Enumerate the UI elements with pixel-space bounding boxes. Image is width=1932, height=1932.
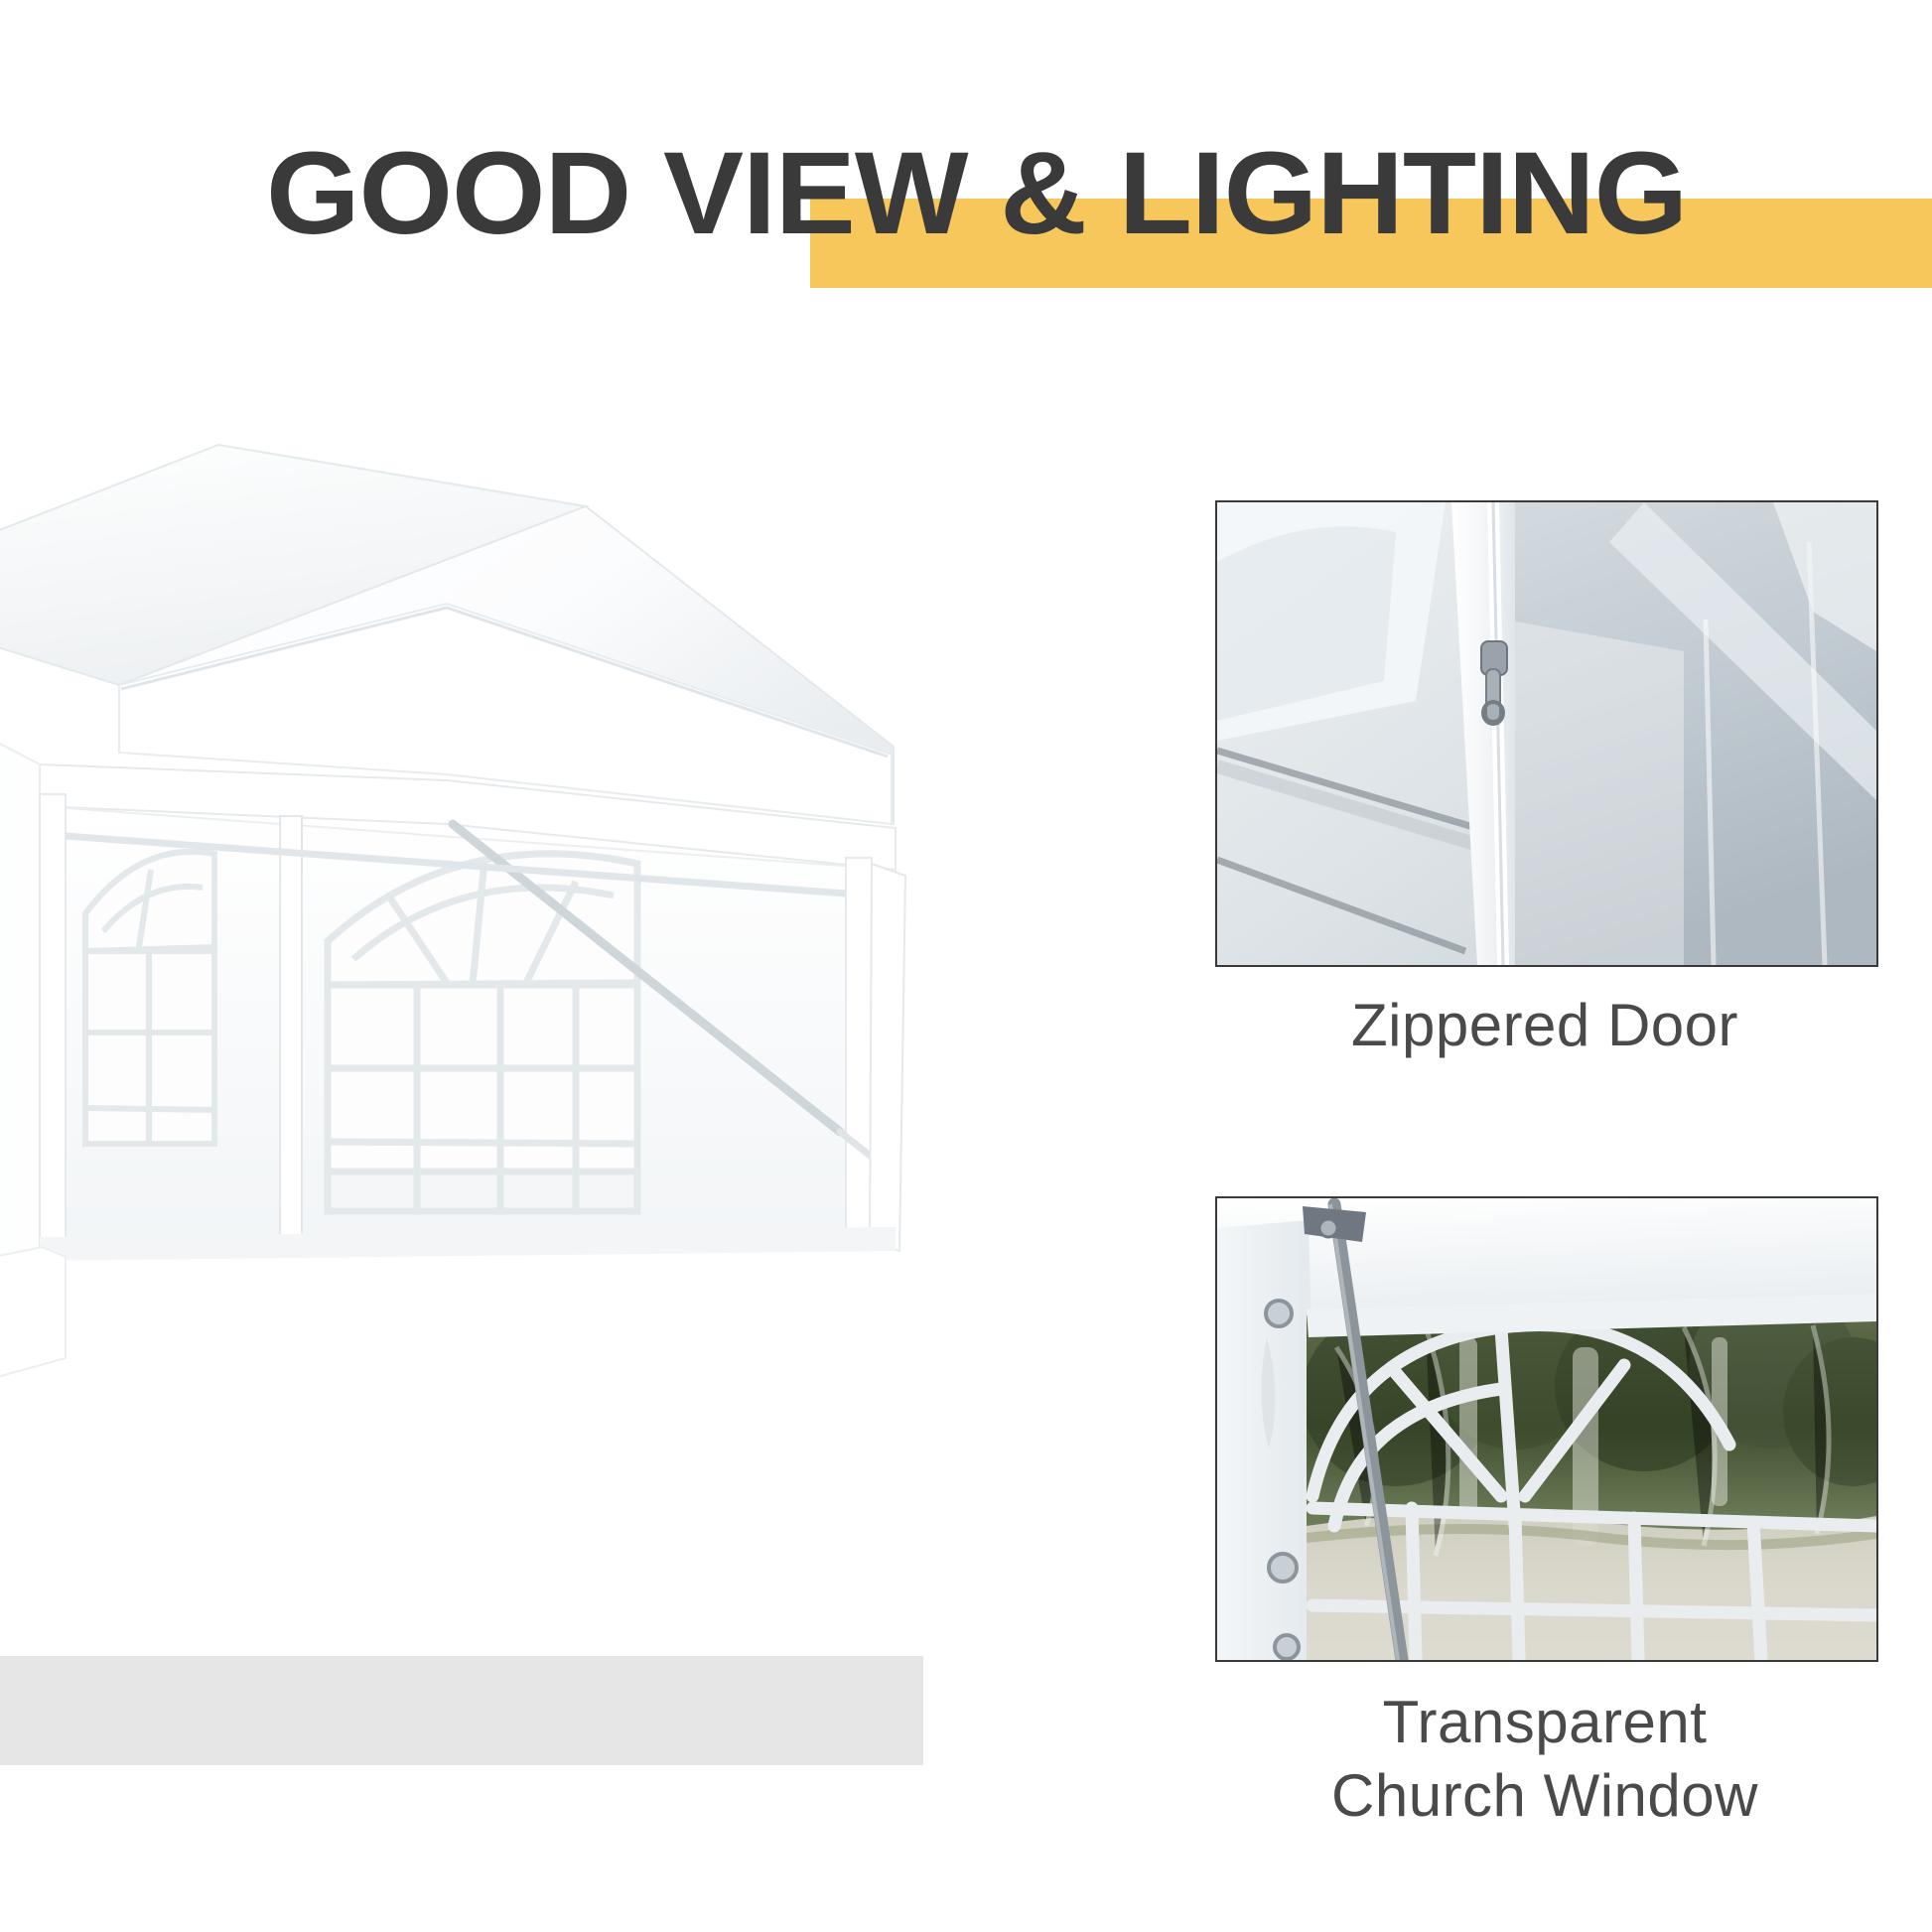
caption-line-2: Church Window [1331,1762,1758,1829]
page-title: GOOD VIEW & LIGHTING [266,135,1687,252]
caption-line-1: Transparent [1383,1689,1708,1755]
feature-caption-church-window: Transparent Church Window [1215,1686,1874,1833]
feature-caption-zippered-door: Zippered Door [1215,989,1874,1062]
hero-ground-shadow [0,1656,923,1765]
zippered-door-photo [1215,500,1878,967]
church-window-photo [1215,1196,1878,1662]
hero-product-image [0,357,1003,1469]
infographic-canvas: GOOD VIEW & LIGHTING [0,0,1932,1932]
